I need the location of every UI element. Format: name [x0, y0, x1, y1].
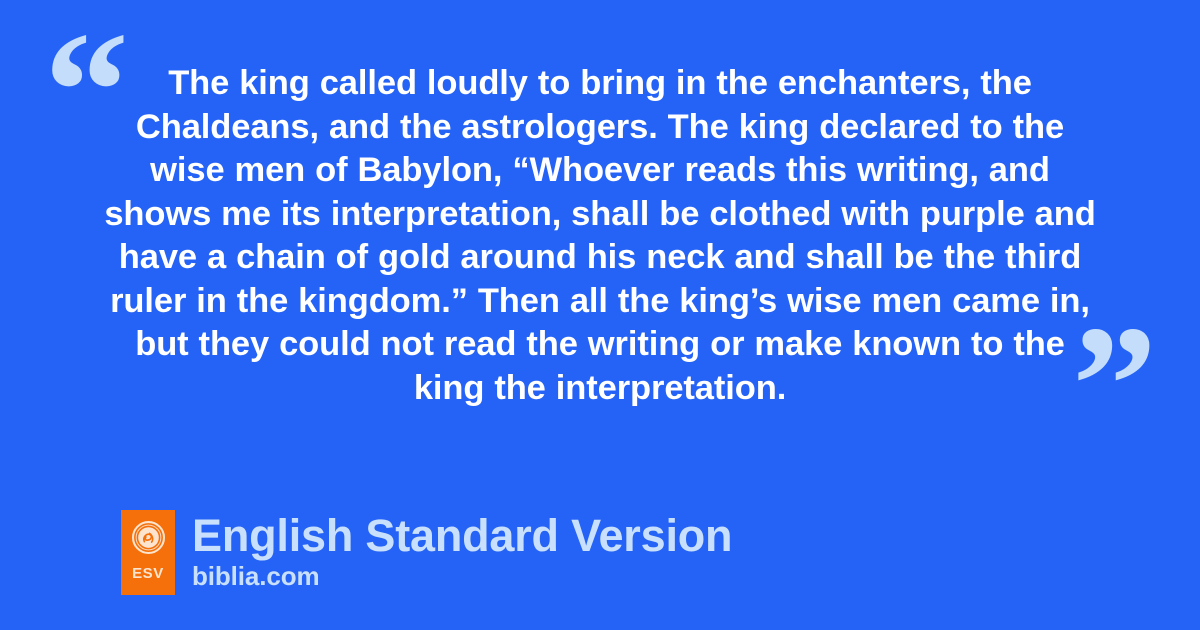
esv-abbreviation: ESV	[132, 566, 164, 581]
bible-version-name: English Standard Version	[192, 512, 732, 559]
quote-card: “ The king called loudly to bring in the…	[0, 0, 1200, 630]
site-name: biblia.com	[192, 562, 732, 590]
quote-block: The king called loudly to bring in the e…	[96, 62, 1104, 410]
attribution-text: English Standard Version biblia.com	[192, 510, 732, 590]
esv-logo: ESV	[121, 510, 175, 595]
closing-quote-icon: ”	[1072, 300, 1157, 470]
attribution: ESV English Standard Version biblia.com	[121, 510, 732, 595]
esv-seal-icon	[132, 521, 165, 554]
quote-text: The king called loudly to bring in the e…	[96, 62, 1104, 410]
